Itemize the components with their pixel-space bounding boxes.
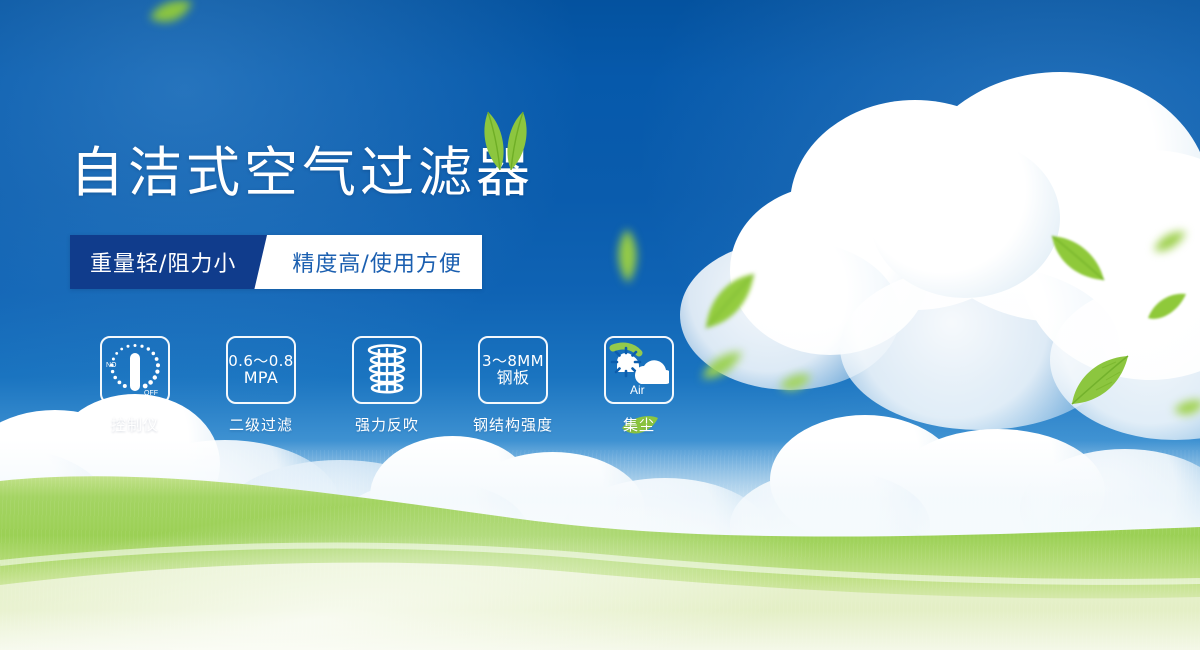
leaf-icon: [1172, 398, 1200, 420]
steel-plate-text-icon: 3～8MM 钢板: [482, 353, 544, 388]
steel-thickness: 3～8MM: [482, 352, 544, 370]
feature-caption: 二级过滤: [229, 414, 293, 435]
gauge-dial-icon: NO OFF: [104, 340, 166, 400]
tagline-divider-slash: [254, 235, 284, 289]
feature-item-reverse-blow[interactable]: 强力反吹: [324, 336, 450, 435]
leaf-icon: [1068, 352, 1132, 406]
tagline-left: 重量轻/阻力小: [70, 235, 254, 289]
page-title: 自洁式空气过滤器: [70, 146, 534, 200]
pressure-text-icon: 0.6～0.8 MPA: [228, 353, 294, 388]
feature-icon-box: 0.6～0.8 MPA: [226, 336, 296, 404]
filter-cartridge-icon: [361, 343, 413, 397]
air-label: Air: [630, 383, 645, 397]
feature-icon-box: NO OFF: [100, 336, 170, 404]
leaf-icon: [1046, 230, 1106, 284]
feature-caption: 控制仪: [111, 414, 159, 435]
pressure-unit: MPA: [228, 369, 294, 387]
leaf-icon: [700, 270, 758, 330]
gauge-off-label: OFF: [144, 390, 158, 397]
leaf-icon: [700, 348, 744, 382]
leaf-icon: [612, 228, 642, 284]
feature-icon-box: Air: [604, 336, 674, 404]
steel-material: 钢板: [482, 369, 544, 387]
gauge-no-label: NO: [106, 362, 117, 369]
leaf-icon: [148, 0, 194, 30]
leaf-icon: [778, 372, 812, 394]
feature-caption: 强力反吹: [355, 414, 419, 435]
feature-item-two-stage-filter[interactable]: 0.6～0.8 MPA 二级过滤: [198, 336, 324, 435]
feature-caption: 钢结构强度: [473, 414, 553, 435]
pressure-value: 0.6～0.8: [228, 352, 294, 370]
leaf-icon: [1146, 290, 1188, 324]
leaf-icon: [1152, 228, 1188, 254]
feature-item-dust-collection[interactable]: Air 集尘: [576, 336, 702, 435]
feature-caption: 集尘: [623, 414, 655, 435]
feature-item-steel-strength[interactable]: 3～8MM 钢板 钢结构强度: [450, 336, 576, 435]
tagline-badge-bar: 重量轻/阻力小 精度高/使用方便: [70, 235, 482, 289]
feature-icon-box: [352, 336, 422, 404]
feature-item-controller[interactable]: NO OFF 控制仪: [72, 336, 198, 435]
cloud-air-icon: Air: [609, 342, 669, 398]
feature-list: NO OFF 控制仪 0.6～0.8 MPA 二级过滤: [72, 336, 702, 435]
tagline-right: 精度高/使用方便: [284, 235, 481, 289]
sprout-leaves-icon: [470, 108, 540, 172]
feature-icon-box: 3～8MM 钢板: [478, 336, 548, 404]
banner-stage: 自洁式空气过滤器 重量轻/阻力小 精度高/使用方便: [0, 0, 1200, 650]
